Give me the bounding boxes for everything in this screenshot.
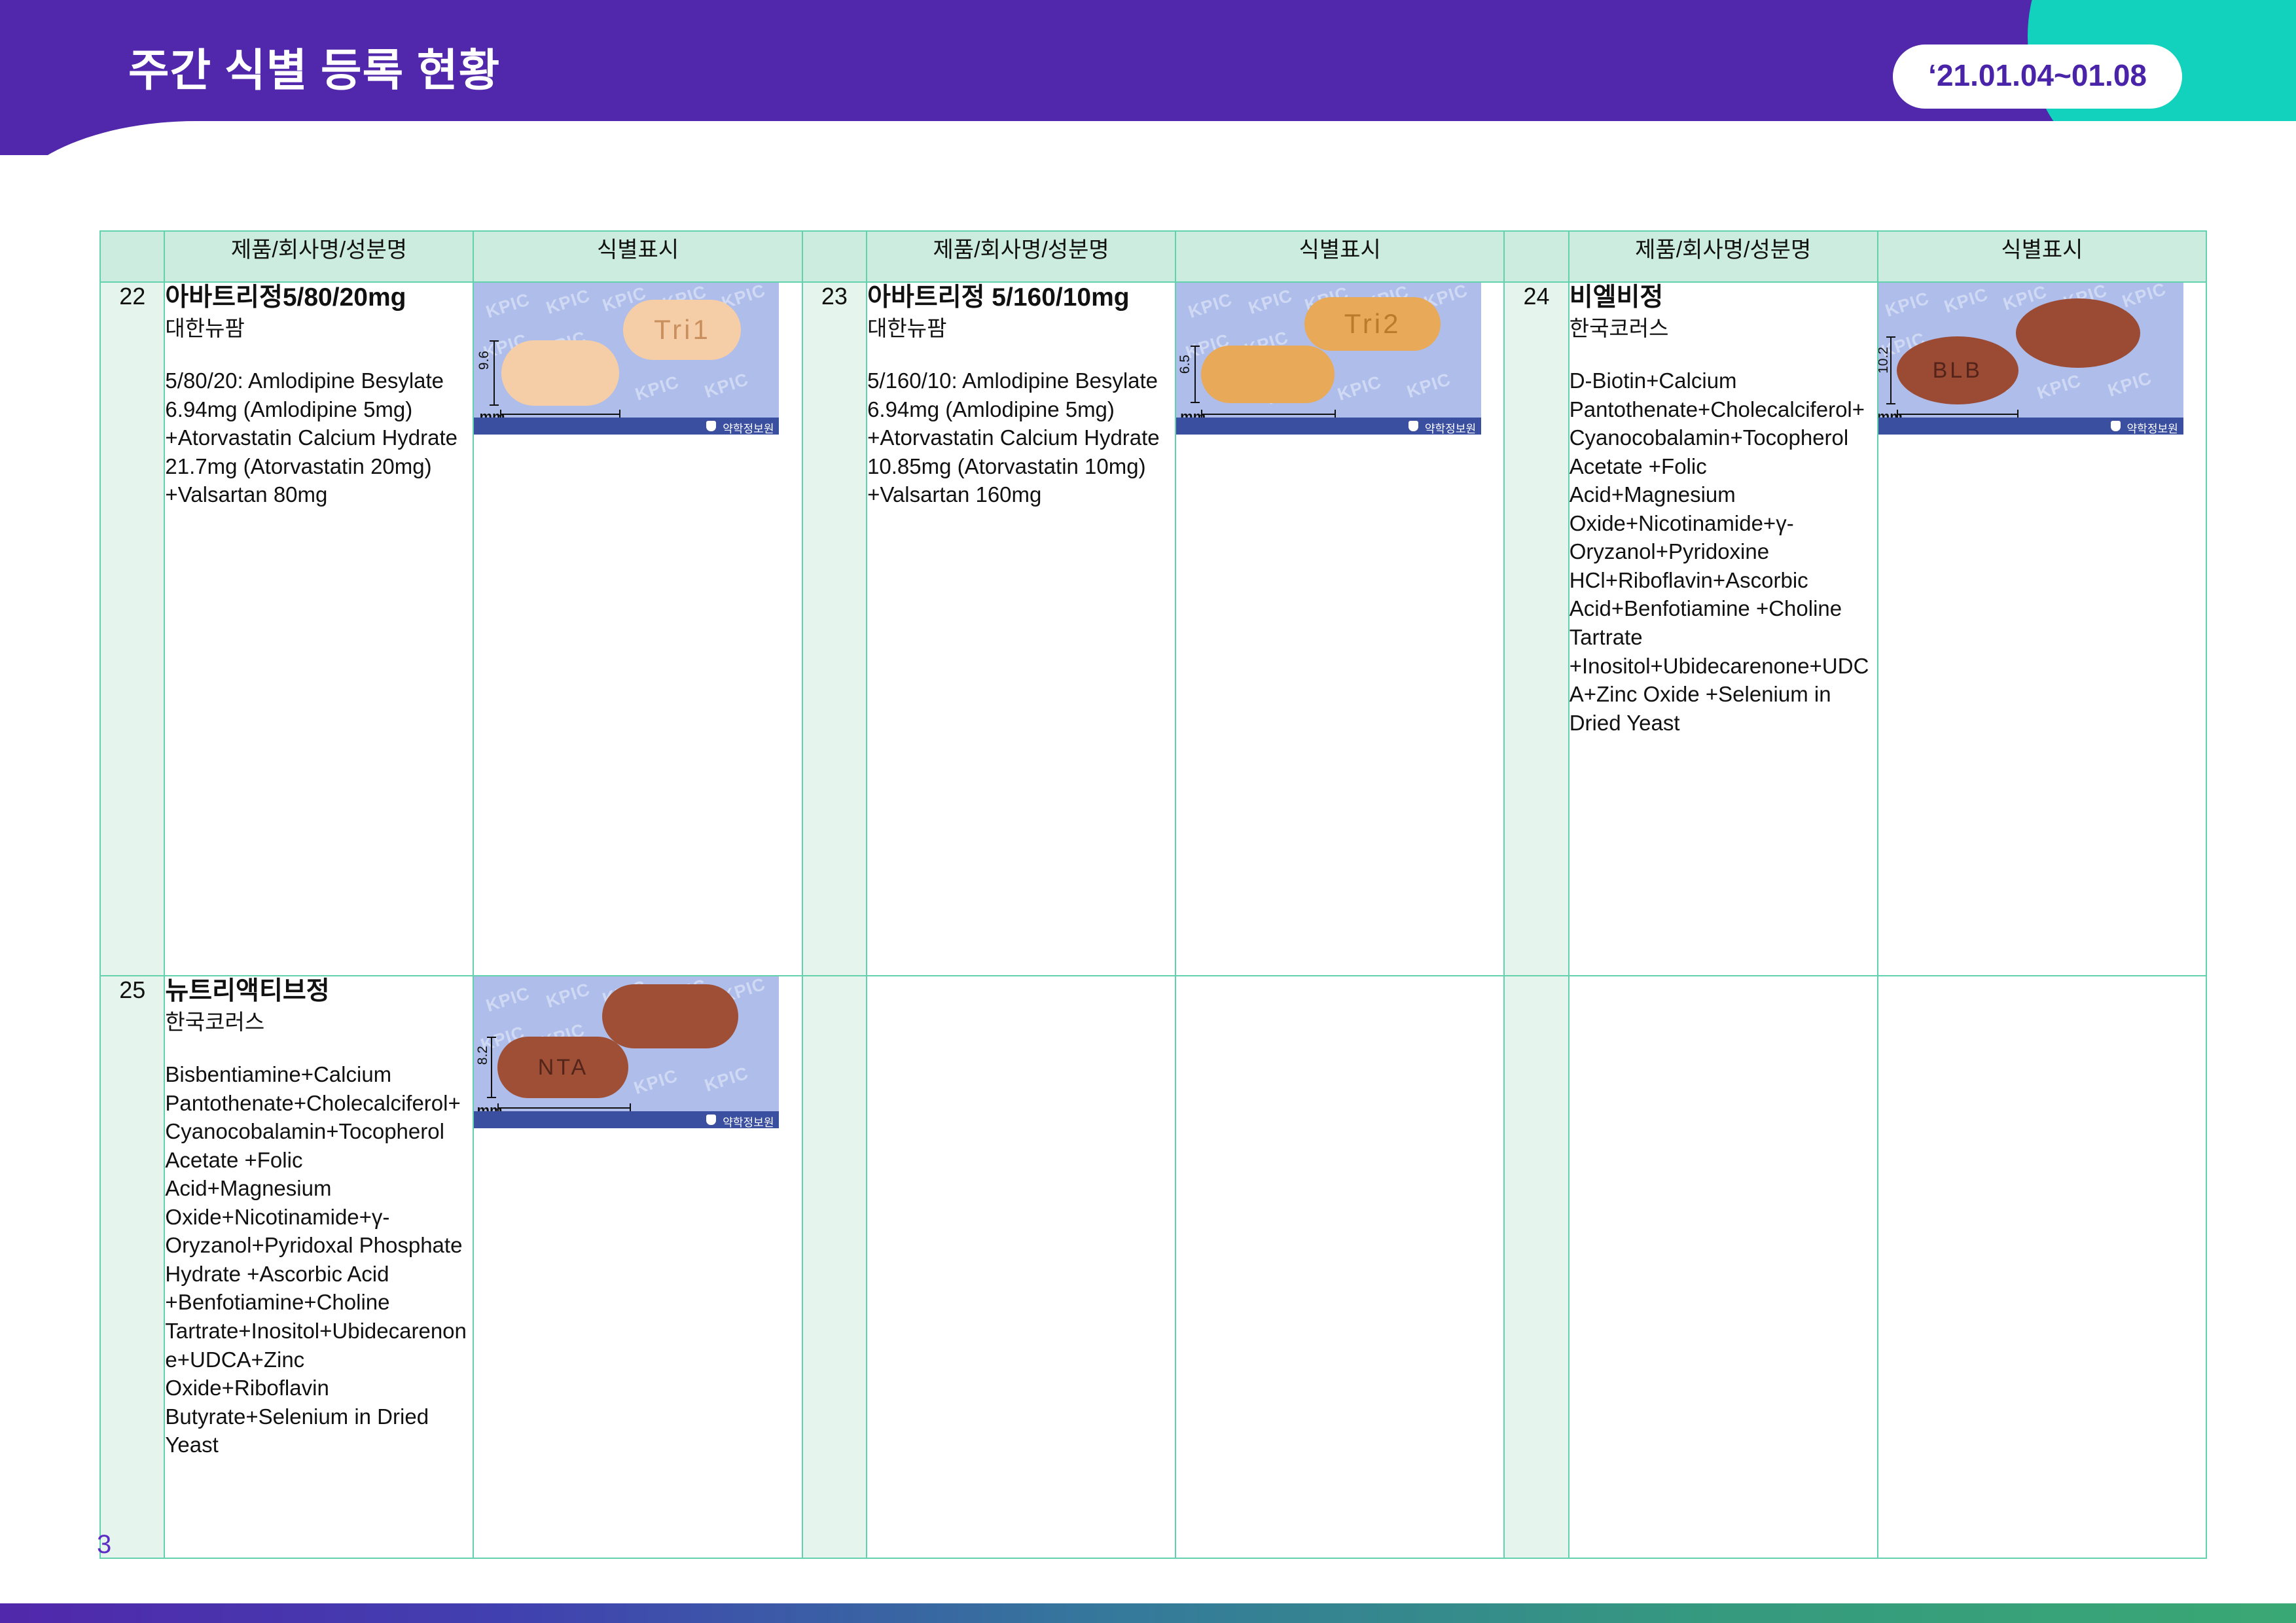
entry-info-cell: 뉴트리액티브정 한국코러스 Bisbentiamine+Calcium Pant… bbox=[164, 976, 473, 1558]
watermark-text: KPIC bbox=[544, 979, 593, 1012]
column-header-product-2: 제품/회사명/성분명 bbox=[867, 231, 1175, 282]
photo-source-bar: 약학정보원 bbox=[474, 418, 779, 435]
height-dimension-line bbox=[491, 1037, 492, 1098]
pill-imprint: NTA bbox=[538, 1055, 588, 1080]
registration-table: 제품/회사명/성분명 식별표시 제품/회사명/성분명 식별표시 제품/회사명/성… bbox=[99, 230, 2207, 1559]
width-dimension-line bbox=[497, 1107, 631, 1109]
entry-pill-cell: KPIC KPIC KPIC KPIC KPIC KPIC KPIC KPIC … bbox=[1175, 282, 1504, 976]
watermark-text: KPIC bbox=[1883, 288, 1932, 321]
page-title: 주간 식별 등록 현황 bbox=[128, 34, 500, 99]
registration-table-wrap: 제품/회사명/성분명 식별표시 제품/회사명/성분명 식별표시 제품/회사명/성… bbox=[99, 230, 2207, 1559]
company-name: 한국코러스 bbox=[165, 1008, 473, 1035]
product-name: 비엘비정 bbox=[1570, 283, 1877, 313]
column-header-mark-3: 식별표시 bbox=[1878, 231, 2206, 282]
shield-icon bbox=[1408, 421, 1418, 431]
entry-info-cell-empty bbox=[867, 976, 1175, 1558]
entry-info-cell: 아바트리정5/80/20mg 대한뉴팜 5/80/20: Amlodipine … bbox=[164, 282, 473, 976]
height-dimension-line bbox=[1194, 346, 1196, 403]
ingredient-list: 5/80/20: Amlodipine Besylate 6.94mg (Aml… bbox=[165, 366, 473, 509]
page-number: 3 bbox=[97, 1530, 111, 1560]
company-name: 한국코러스 bbox=[1570, 315, 1877, 342]
ingredient-list: Bisbentiamine+Calcium Pantothenate+Chole… bbox=[165, 1060, 473, 1459]
pill-photo: KPIC KPIC KPIC KPIC KPIC KPIC KPIC KPIC … bbox=[474, 976, 779, 1128]
date-range-badge: ‘21.01.04~01.08 bbox=[1893, 45, 2182, 109]
entry-pill-cell: KPIC KPIC KPIC KPIC KPIC KPIC KPIC KPIC … bbox=[473, 976, 802, 1558]
product-name: 아바트리정5/80/20mg bbox=[165, 283, 473, 313]
header-curve-decoration bbox=[0, 121, 2296, 226]
height-dimension-label: 6.5 bbox=[1177, 355, 1193, 374]
ingredient-list: D-Biotin+Calcium Pantothenate+Cholecalci… bbox=[1570, 366, 1877, 737]
pill-photo: KPIC KPIC KPIC KPIC KPIC KPIC KPIC KPIC … bbox=[1176, 283, 1481, 435]
company-name: 대한뉴팜 bbox=[867, 315, 1175, 342]
pill-front-view: BLB bbox=[1897, 336, 2018, 404]
shield-icon bbox=[706, 1115, 716, 1125]
watermark-text: KPIC bbox=[702, 369, 751, 402]
entry-pill-cell-empty bbox=[1878, 976, 2206, 1558]
width-dimension-line bbox=[1897, 414, 2018, 415]
watermark-text: KPIC bbox=[2035, 370, 2084, 404]
watermark-text: KPIC bbox=[544, 285, 593, 319]
pill-photo: KPIC KPIC KPIC KPIC KPIC KPIC KPIC KPIC … bbox=[1878, 283, 2183, 435]
entry-pill-cell-empty bbox=[1175, 976, 1504, 1558]
entry-index-empty bbox=[802, 976, 867, 1558]
watermark-text: KPIC bbox=[1246, 285, 1295, 319]
pill-back-view bbox=[2016, 298, 2140, 368]
entry-index-empty bbox=[1504, 976, 1568, 1558]
footer-gradient-bar bbox=[0, 1603, 2296, 1623]
width-dimension-line bbox=[1201, 414, 1336, 415]
column-header-index-1 bbox=[100, 231, 164, 282]
pill-imprint: Tri2 bbox=[1344, 308, 1401, 340]
table-row: 22 아바트리정5/80/20mg 대한뉴팜 5/80/20: Amlodipi… bbox=[100, 282, 2206, 976]
column-header-mark-2: 식별표시 bbox=[1175, 231, 1504, 282]
pill-imprint: Tri1 bbox=[654, 314, 711, 346]
watermark-text: KPIC bbox=[1186, 289, 1235, 323]
column-header-product-3: 제품/회사명/성분명 bbox=[1569, 231, 1878, 282]
column-header-index-3 bbox=[1504, 231, 1568, 282]
shield-icon bbox=[706, 421, 716, 431]
ingredient-list: 5/160/10: Amlodipine Besylate 6.94mg (Am… bbox=[867, 366, 1175, 509]
pill-front-view: Tri2 bbox=[1304, 297, 1441, 351]
entry-pill-cell: KPIC KPIC KPIC KPIC KPIC KPIC KPIC KPIC … bbox=[1878, 282, 2206, 976]
photo-source-label: 약학정보원 bbox=[2127, 419, 2178, 435]
column-header-mark-1: 식별표시 bbox=[473, 231, 802, 282]
watermark-text: KPIC bbox=[484, 983, 533, 1016]
pill-back-view bbox=[501, 340, 619, 406]
height-dimension-line bbox=[493, 340, 495, 406]
entry-index: 23 bbox=[802, 282, 867, 976]
width-dimension-line bbox=[500, 414, 620, 415]
watermark-text: KPIC bbox=[1405, 369, 1454, 402]
watermark-text: KPIC bbox=[1335, 372, 1384, 405]
height-dimension-label: 10.2 bbox=[1878, 347, 1892, 374]
photo-source-label: 약학정보원 bbox=[1425, 419, 1476, 435]
height-dimension-label: 8.2 bbox=[475, 1046, 491, 1065]
entry-index: 22 bbox=[100, 282, 164, 976]
watermark-text: KPIC bbox=[702, 1063, 751, 1096]
watermark-text: KPIC bbox=[1942, 284, 1991, 317]
height-dimension-label: 9.6 bbox=[476, 351, 492, 370]
pill-front-view: NTA bbox=[497, 1037, 628, 1098]
watermark-text: KPIC bbox=[2106, 368, 2155, 401]
photo-source-bar: 약학정보원 bbox=[1878, 418, 2183, 435]
photo-source-label: 약학정보원 bbox=[723, 1113, 774, 1128]
shield-icon bbox=[2111, 421, 2121, 431]
pill-back-view bbox=[1201, 346, 1335, 403]
entry-info-cell: 아바트리정 5/160/10mg 대한뉴팜 5/160/10: Amlodipi… bbox=[867, 282, 1175, 976]
column-header-index-2 bbox=[802, 231, 867, 282]
watermark-text: KPIC bbox=[633, 372, 682, 405]
table-header-row: 제품/회사명/성분명 식별표시 제품/회사명/성분명 식별표시 제품/회사명/성… bbox=[100, 231, 2206, 282]
pill-back-view bbox=[602, 984, 738, 1048]
watermark-text: KPIC bbox=[632, 1065, 681, 1099]
entry-info-cell-empty bbox=[1569, 976, 1878, 1558]
product-name: 뉴트리액티브정 bbox=[165, 976, 473, 1007]
column-header-product-1: 제품/회사명/성분명 bbox=[164, 231, 473, 282]
entry-index: 24 bbox=[1504, 282, 1568, 976]
photo-source-bar: 약학정보원 bbox=[474, 1111, 779, 1128]
entry-info-cell: 비엘비정 한국코러스 D-Biotin+Calcium Pantothenate… bbox=[1569, 282, 1878, 976]
company-name: 대한뉴팜 bbox=[165, 315, 473, 342]
table-row: 25 뉴트리액티브정 한국코러스 Bisbentiamine+Calcium P… bbox=[100, 976, 2206, 1558]
pill-imprint: BLB bbox=[1933, 358, 1982, 383]
entry-pill-cell: KPIC KPIC KPIC KPIC KPIC KPIC KPIC KPIC … bbox=[473, 282, 802, 976]
watermark-text: KPIC bbox=[484, 289, 533, 323]
watermark-text: KPIC bbox=[2120, 283, 2169, 312]
pill-front-view: Tri1 bbox=[623, 300, 741, 360]
pill-photo: KPIC KPIC KPIC KPIC KPIC KPIC KPIC KPIC … bbox=[474, 283, 779, 435]
entry-index: 25 bbox=[100, 976, 164, 1558]
photo-source-bar: 약학정보원 bbox=[1176, 418, 1481, 435]
product-name: 아바트리정 5/160/10mg bbox=[867, 283, 1175, 313]
photo-source-label: 약학정보원 bbox=[723, 419, 774, 435]
slide-page: 주간 식별 등록 현황 ‘21.01.04~01.08 제품/회사명/성분명 식… bbox=[0, 0, 2296, 1623]
